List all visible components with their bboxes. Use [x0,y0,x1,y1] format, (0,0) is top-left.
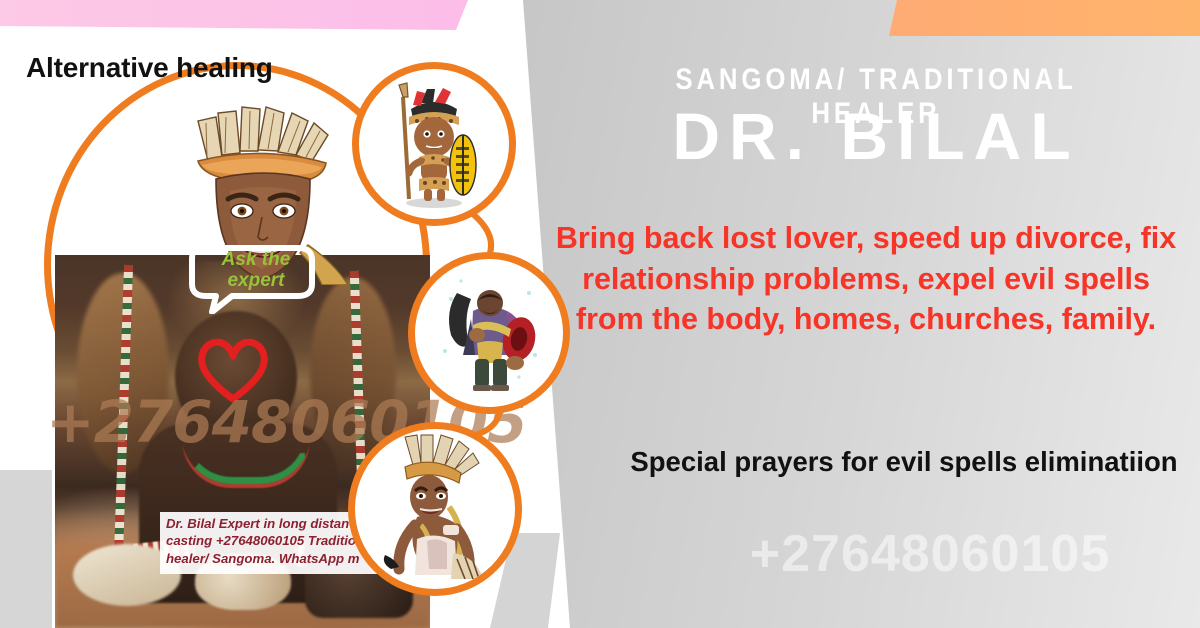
watermark-phone-number: +27648060105 [660,524,1200,584]
thumbnail-traditional-healer-illustration [408,252,570,414]
tribal-dancer-icon [355,429,515,589]
services-description: Bring back lost lover, speed up divorce,… [548,218,1184,340]
page-title: DR. BILAL [566,100,1186,174]
thumbnail-tribal-dancer-illustration [348,422,522,596]
zulu-warrior-cartoon-icon [359,69,509,219]
caption-line-3: healer/ Sangoma. WhatsApp m [166,550,384,567]
ask-the-expert-label: Ask the expert [204,250,308,291]
special-prayers-text: Special prayers for evil spells eliminat… [620,444,1188,481]
traditional-healer-icon [415,259,563,407]
gray-accent-shape-left [0,470,52,628]
poster-canvas: Ask the expert +27648060105 Dr. Bilal Ex… [0,0,1200,628]
thumbnail-zulu-warrior-cartoon [352,62,516,226]
alternative-healing-heading: Alternative healing [26,52,273,84]
